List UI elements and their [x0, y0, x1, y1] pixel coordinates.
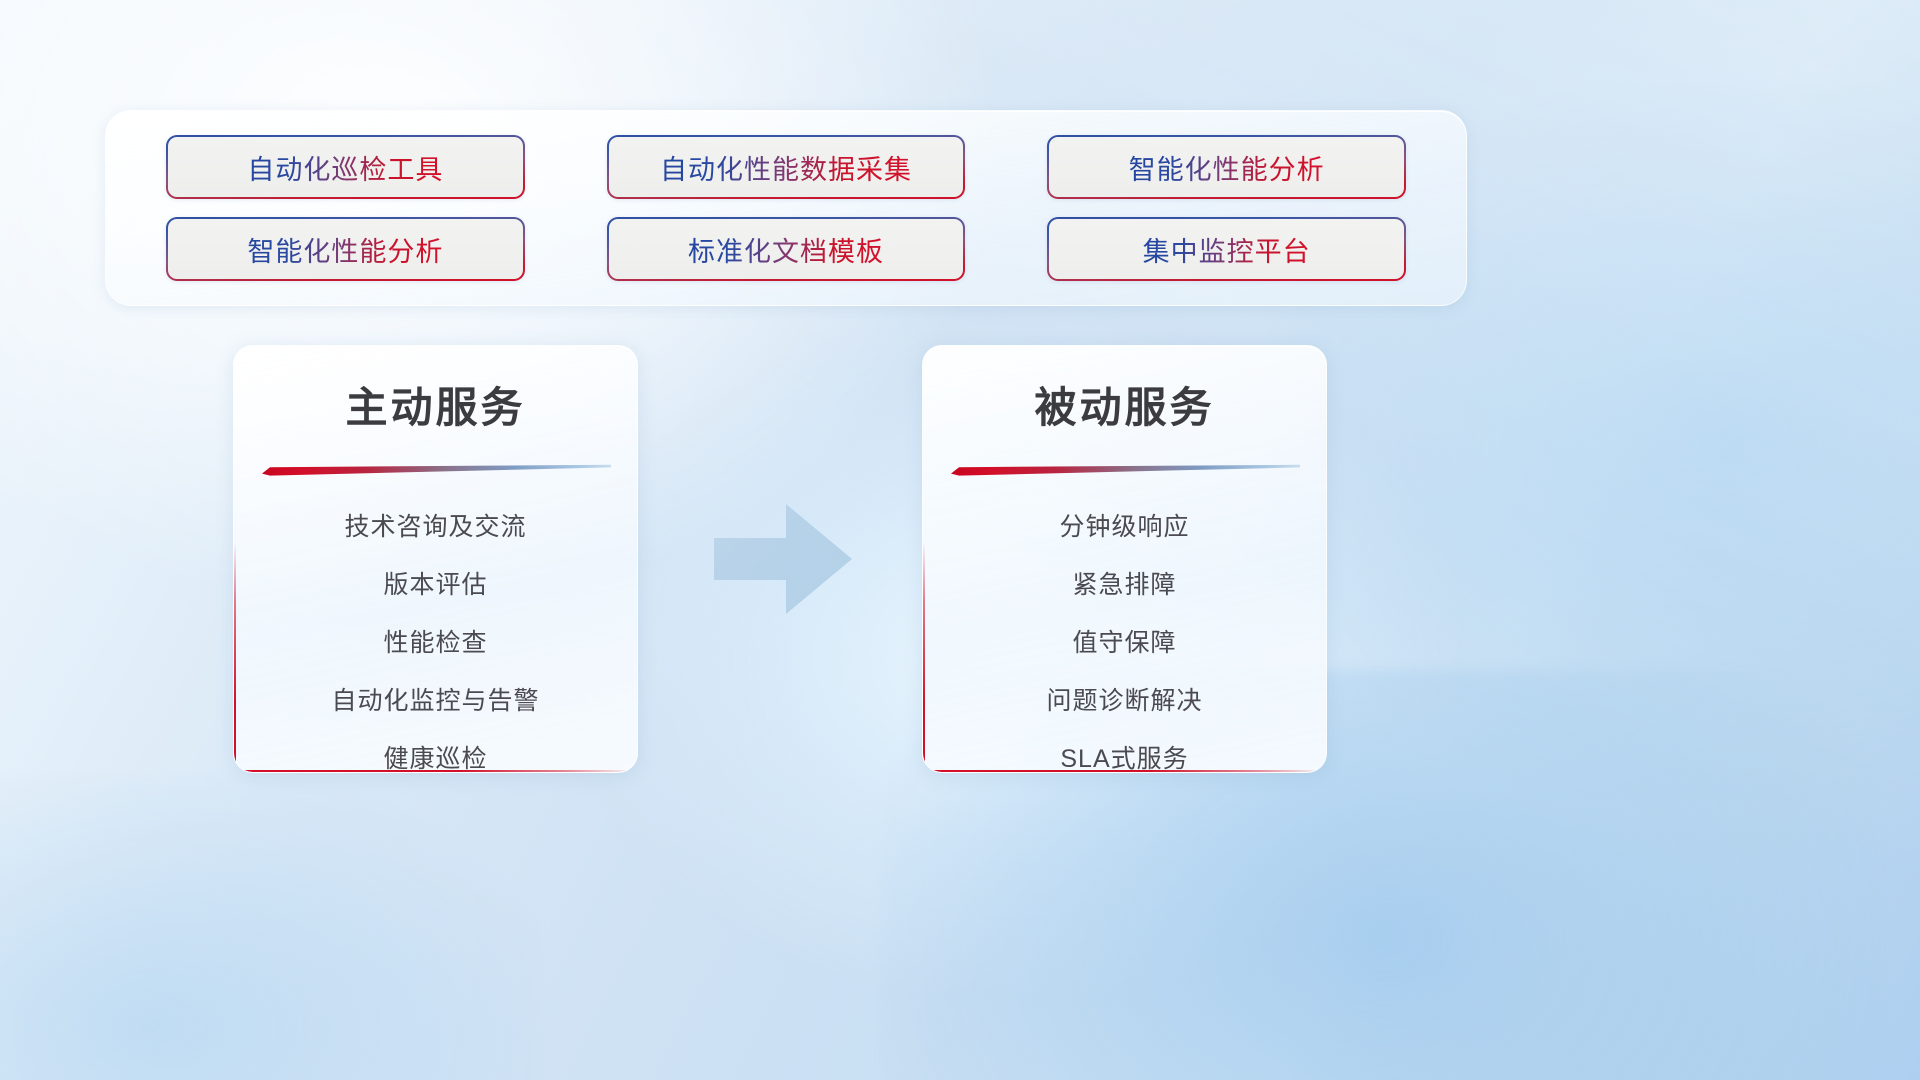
arrow-right-icon	[712, 498, 854, 620]
service-card-passive[interactable]: 被动服务 分钟级响应 紧急排障	[922, 345, 1327, 773]
service-card-passive-title: 被动服务	[923, 374, 1326, 435]
capability-tag-3-surface: 智能化性能分析	[168, 219, 523, 279]
capability-tag-0[interactable]: 自动化巡检工具	[166, 135, 525, 199]
capability-tag-5-surface: 集中监控平台	[1049, 219, 1404, 279]
list-item: 自动化监控与告警	[234, 672, 637, 730]
list-item: 健康巡检	[234, 730, 637, 773]
capability-tag-5-label: 集中监控平台	[1143, 230, 1311, 269]
service-card-active[interactable]: 主动服务 技术咨询及交流 版本评估	[233, 345, 638, 773]
list-item: 问题诊断解决	[923, 672, 1326, 730]
slide-canvas: 自动化巡检工具 自动化性能数据采集 智能化性能分析 智能化性能分析	[0, 0, 1920, 1080]
list-item: 版本评估	[234, 556, 637, 614]
card-divider-gradient-bar	[951, 464, 1300, 476]
capability-tag-1[interactable]: 自动化性能数据采集	[607, 135, 966, 199]
list-item: 值守保障	[923, 614, 1326, 672]
service-card-active-list: 技术咨询及交流 版本评估 性能检查 自动化监控与告警 健康巡检	[234, 498, 637, 773]
capability-tag-2[interactable]: 智能化性能分析	[1047, 135, 1406, 199]
capability-tag-4-label: 标准化文档模板	[688, 230, 884, 269]
capability-tag-1-label: 自动化性能数据采集	[660, 148, 912, 187]
capability-tag-2-surface: 智能化性能分析	[1049, 137, 1404, 197]
list-item: 分钟级响应	[923, 498, 1326, 556]
capability-tag-2-label: 智能化性能分析	[1129, 148, 1325, 187]
capability-tag-5[interactable]: 集中监控平台	[1047, 217, 1406, 281]
capability-tag-1-surface: 自动化性能数据采集	[609, 137, 964, 197]
capability-tag-3-label: 智能化性能分析	[247, 230, 443, 269]
capability-tag-4[interactable]: 标准化文档模板	[607, 217, 966, 281]
capability-tags-panel: 自动化巡检工具 自动化性能数据采集 智能化性能分析 智能化性能分析	[105, 110, 1467, 306]
capability-tag-0-label: 自动化巡检工具	[247, 148, 443, 187]
capability-tag-0-surface: 自动化巡检工具	[168, 137, 523, 197]
list-item: 性能检查	[234, 614, 637, 672]
capability-tags-grid: 自动化巡检工具 自动化性能数据采集 智能化性能分析 智能化性能分析	[166, 135, 1406, 281]
service-card-active-title: 主动服务	[234, 374, 637, 435]
service-card-passive-list: 分钟级响应 紧急排障 值守保障 问题诊断解决 SLA式服务	[923, 498, 1326, 773]
card-divider-gradient-bar	[262, 464, 611, 476]
capability-tag-3[interactable]: 智能化性能分析	[166, 217, 525, 281]
list-item: 技术咨询及交流	[234, 498, 637, 556]
capability-tag-4-surface: 标准化文档模板	[609, 219, 964, 279]
list-item: 紧急排障	[923, 556, 1326, 614]
list-item: SLA式服务	[923, 730, 1326, 773]
